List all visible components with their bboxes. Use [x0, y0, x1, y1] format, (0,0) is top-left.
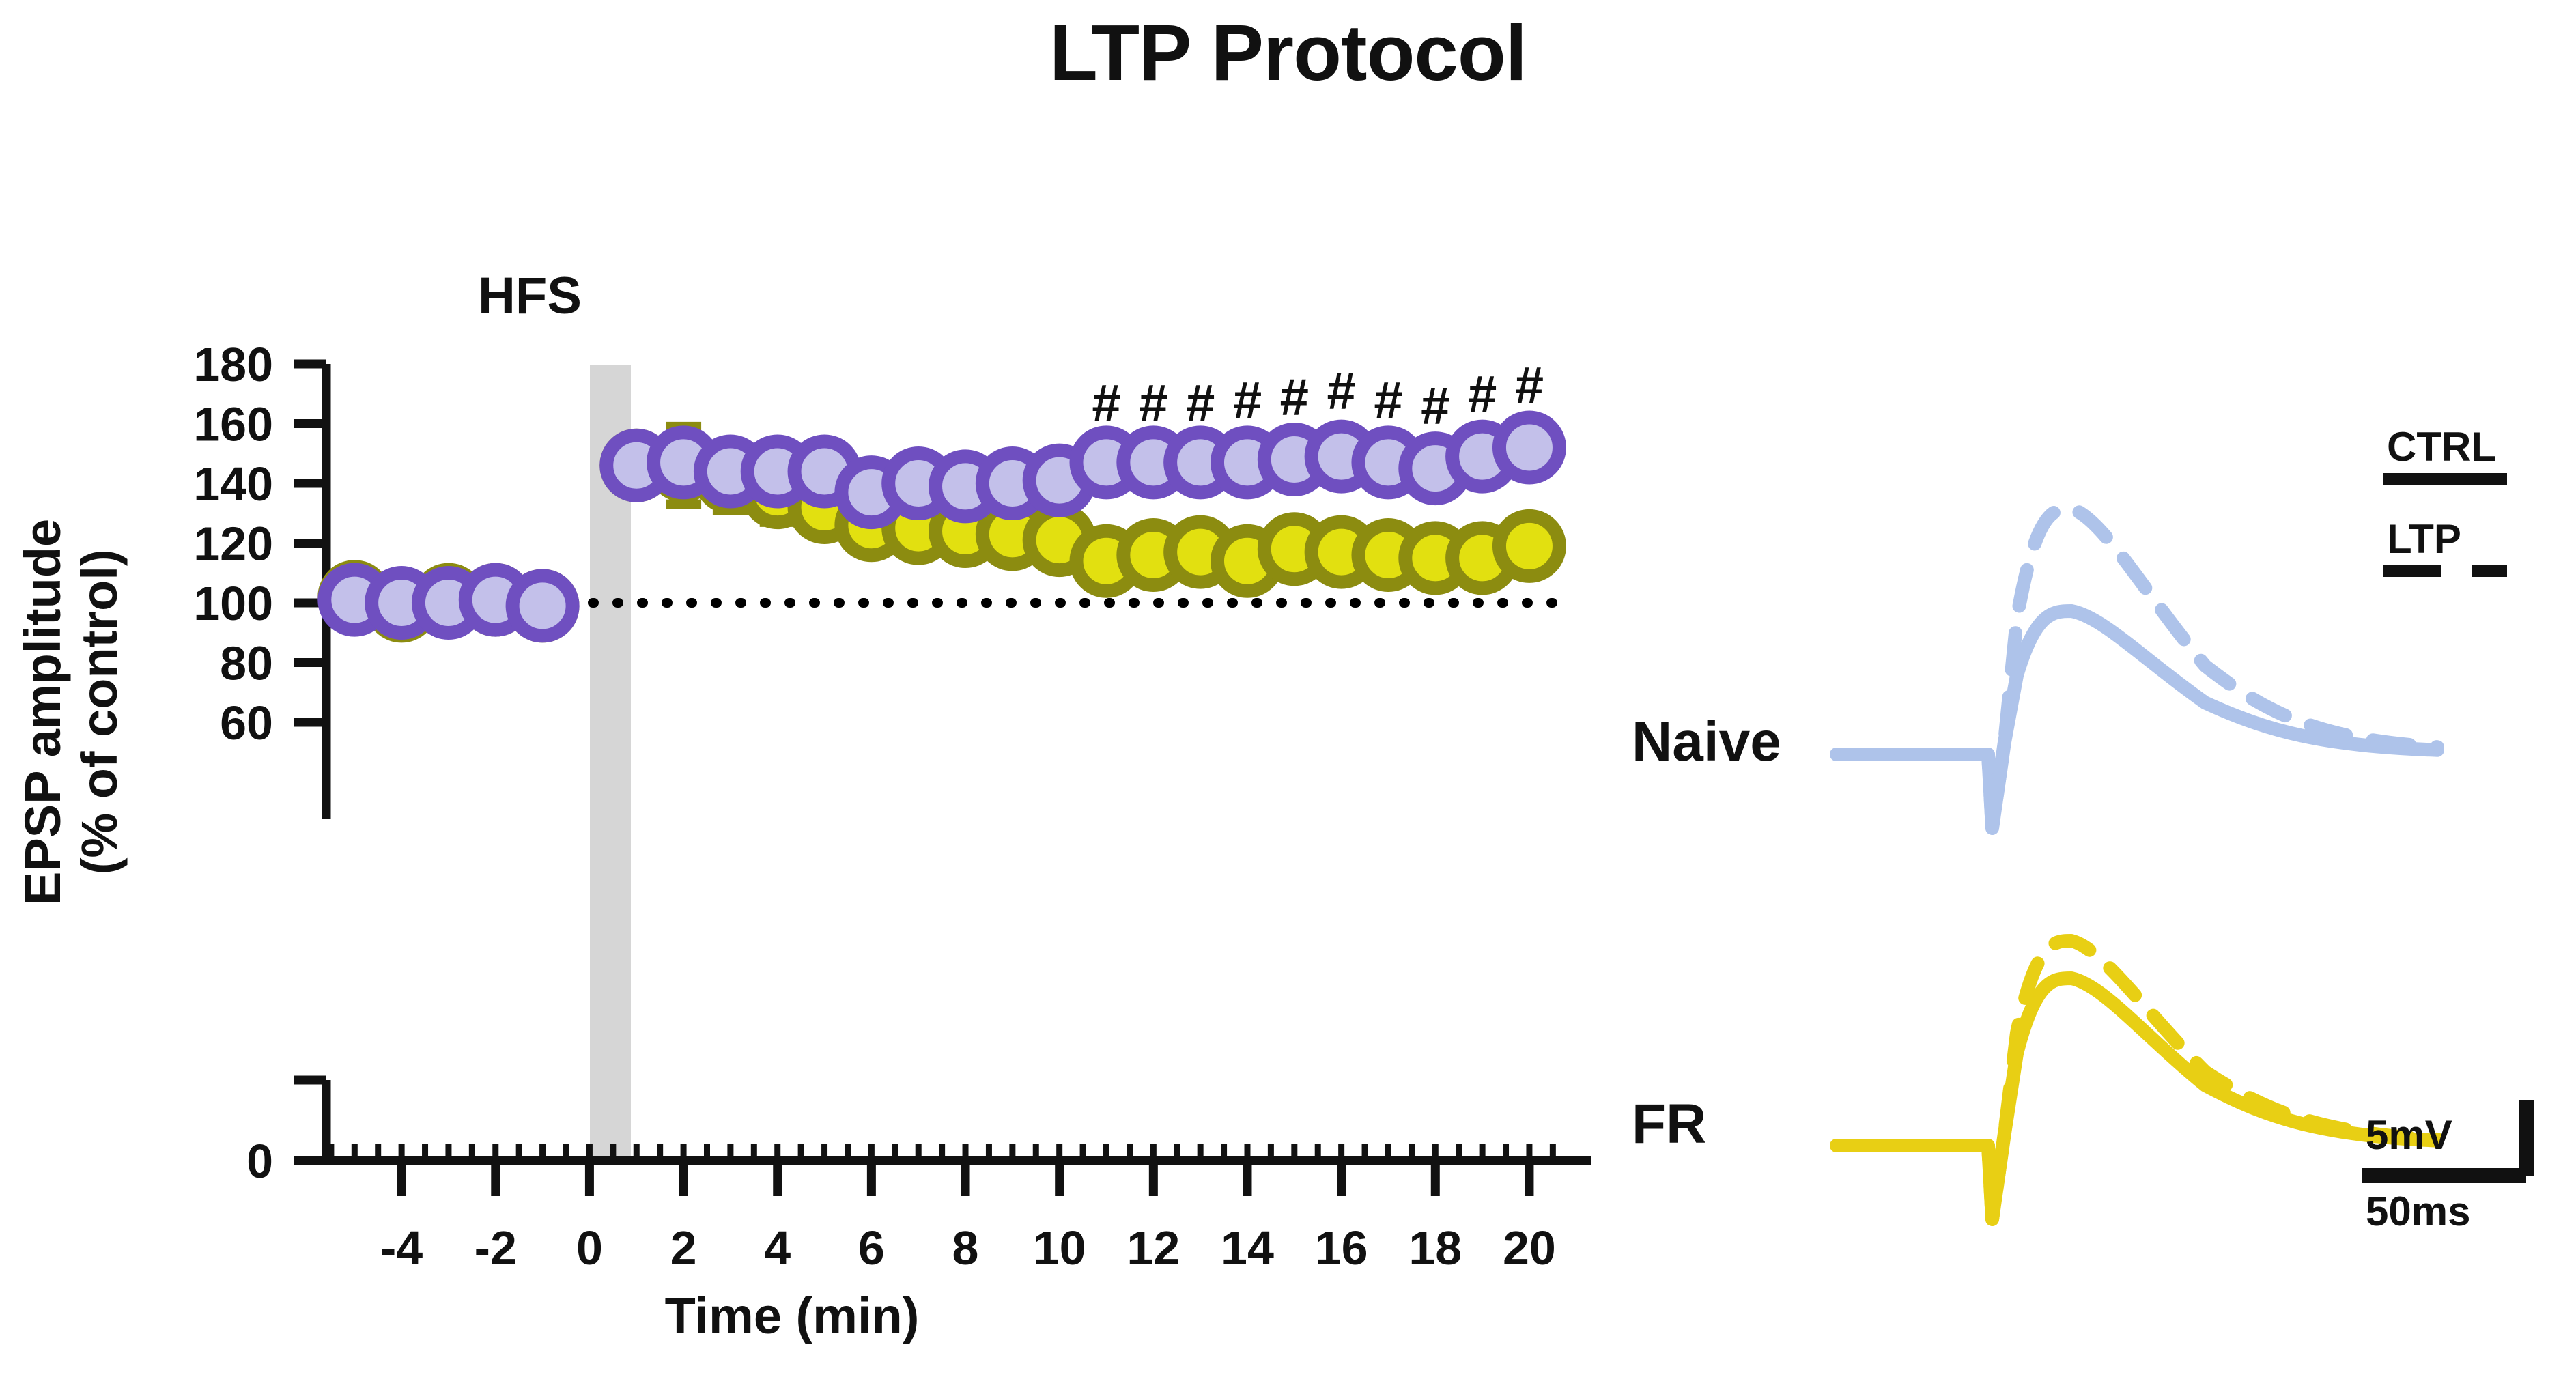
x-tick-label: 14 — [1221, 1221, 1274, 1275]
significance-mark: # — [1421, 378, 1449, 436]
x-tick-label: 18 — [1409, 1221, 1462, 1275]
y-tick-label: 180 — [193, 338, 273, 391]
x-tick-label: 12 — [1127, 1221, 1180, 1275]
x-tick-label: -2 — [475, 1221, 517, 1275]
x-tick-label: 4 — [764, 1221, 791, 1275]
scale-bar-voltage-label: 5mV — [2366, 1111, 2452, 1159]
x-tick-label: 10 — [1033, 1221, 1086, 1275]
x-tick-label: 0 — [576, 1221, 603, 1275]
figure-canvas: LTP Protocol EPSP amplitude (% of contro… — [0, 0, 2576, 1392]
significance-mark: # — [1092, 374, 1120, 432]
scale-bar-time-label: 50ms — [2366, 1188, 2470, 1235]
significance-mark: # — [1139, 374, 1167, 432]
y-tick-label: 100 — [193, 577, 273, 630]
data-point — [513, 576, 573, 636]
y-tick-label: 80 — [220, 637, 273, 690]
y-tick-label: 60 — [220, 696, 273, 750]
data-point — [1499, 516, 1559, 576]
legend-label-ctrl: CTRL — [2387, 423, 2496, 470]
significance-mark: # — [1468, 365, 1497, 423]
x-tick-label: -4 — [380, 1221, 423, 1275]
x-tick-label: 16 — [1315, 1221, 1368, 1275]
example-traces-layer — [1837, 479, 2526, 1219]
y-tick-label: 140 — [193, 457, 273, 511]
y-tick-label: 0 — [246, 1135, 273, 1188]
trace-fr-ctrl — [1837, 978, 2437, 1219]
y-tick-label: 120 — [193, 517, 273, 571]
significance-mark: # — [1515, 356, 1544, 414]
trace-fr-ltp — [1837, 941, 2437, 1219]
data-point — [1499, 418, 1559, 478]
trace-naive-ctrl — [1837, 611, 2437, 828]
trace-naive-ltp — [1837, 509, 2437, 828]
x-tick-label: 20 — [1503, 1221, 1556, 1275]
significance-mark: # — [1280, 368, 1309, 426]
x-tick-label: 6 — [858, 1221, 885, 1275]
significance-mark: # — [1327, 363, 1355, 421]
x-tick-label: 2 — [670, 1221, 697, 1275]
significance-mark: # — [1233, 371, 1262, 429]
x-tick-label: 8 — [952, 1221, 979, 1275]
trace-panel-label-fr: FR — [1632, 1092, 1706, 1156]
significance-mark: # — [1374, 371, 1402, 429]
significance-mark: # — [1186, 374, 1215, 432]
trace-panel-label-naive: Naive — [1632, 710, 1781, 774]
y-tick-label: 160 — [193, 398, 273, 451]
plot-svg: 06080100120140160180-4-20246810121416182… — [0, 0, 2576, 1392]
legend-label-ltp: LTP — [2387, 515, 2461, 563]
